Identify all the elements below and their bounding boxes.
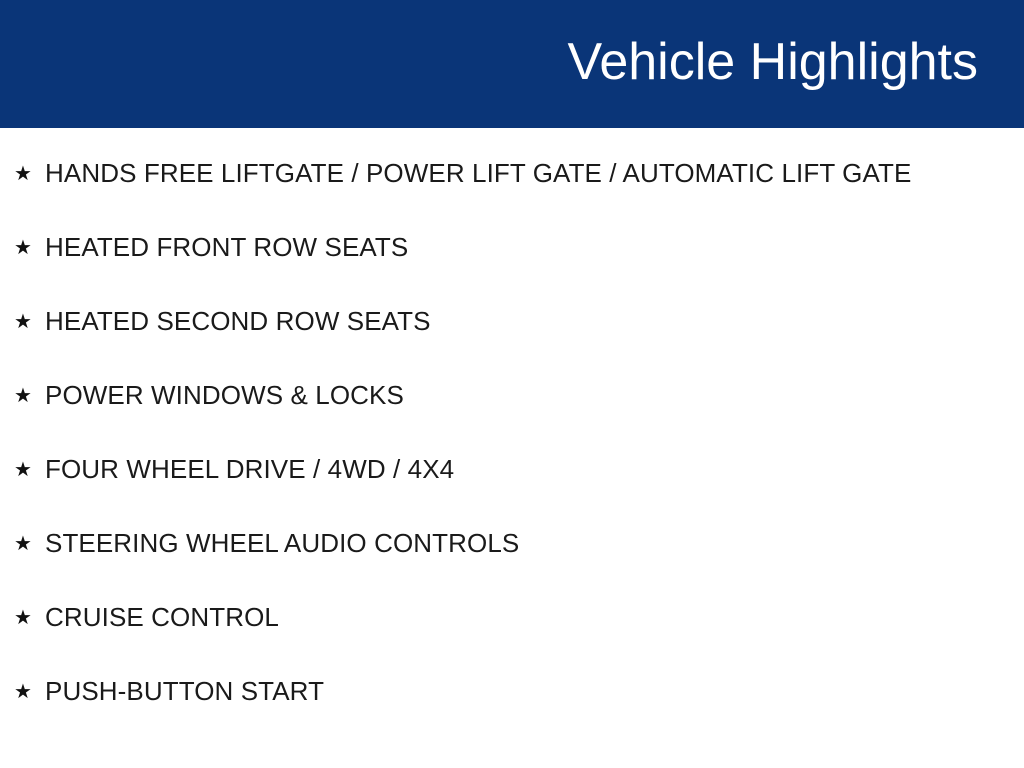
list-item: ★ FOUR WHEEL DRIVE / 4WD / 4X4 <box>14 450 1000 488</box>
list-item: ★ HANDS FREE LIFTGATE / POWER LIFT GATE … <box>14 154 1000 192</box>
list-item: ★ HEATED SECOND ROW SEATS <box>14 302 1000 340</box>
list-item: ★ PUSH-BUTTON START <box>14 672 1000 710</box>
list-item: ★ POWER WINDOWS & LOCKS <box>14 376 1000 414</box>
highlight-label: FOUR WHEEL DRIVE / 4WD / 4X4 <box>45 450 960 488</box>
page-title: Vehicle Highlights <box>568 36 978 92</box>
star-bullet-icon: ★ <box>14 302 36 340</box>
slide-header-band: Vehicle Highlights <box>0 0 1024 128</box>
highlight-label: HANDS FREE LIFTGATE / POWER LIFT GATE / … <box>45 154 960 192</box>
star-bullet-icon: ★ <box>14 376 36 414</box>
highlight-label: STEERING WHEEL AUDIO CONTROLS <box>45 524 960 562</box>
highlight-label: HEATED SECOND ROW SEATS <box>45 302 960 340</box>
star-bullet-icon: ★ <box>14 228 36 266</box>
star-bullet-icon: ★ <box>14 598 36 636</box>
star-bullet-icon: ★ <box>14 450 36 488</box>
list-item: ★ STEERING WHEEL AUDIO CONTROLS <box>14 524 1000 562</box>
star-bullet-icon: ★ <box>14 672 36 710</box>
star-bullet-icon: ★ <box>14 524 36 562</box>
highlight-label: PUSH-BUTTON START <box>45 672 960 710</box>
list-item: ★ HEATED FRONT ROW SEATS <box>14 228 1000 266</box>
vehicle-highlights-slide: Vehicle Highlights ★ HANDS FREE LIFTGATE… <box>0 0 1024 768</box>
star-bullet-icon: ★ <box>14 154 36 192</box>
highlight-label: POWER WINDOWS & LOCKS <box>45 376 960 414</box>
highlight-label: CRUISE CONTROL <box>45 598 960 636</box>
vehicle-highlights-list: ★ HANDS FREE LIFTGATE / POWER LIFT GATE … <box>0 128 1024 768</box>
list-item: ★ CRUISE CONTROL <box>14 598 1000 636</box>
highlight-label: HEATED FRONT ROW SEATS <box>45 228 960 266</box>
